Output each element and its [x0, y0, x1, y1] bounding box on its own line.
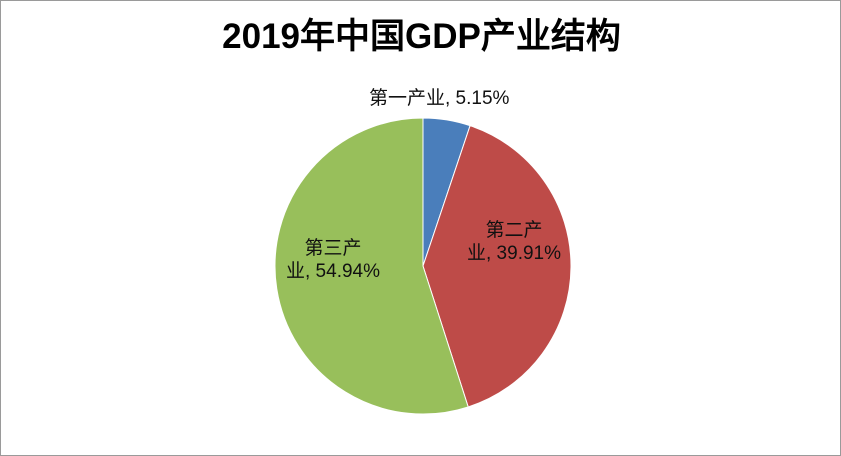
pie-label-third-industry: 第三产 业, 54.94% — [273, 237, 393, 283]
pie-label-second-industry-line1: 第二产 — [485, 220, 542, 241]
pie-label-third-industry-line1: 第三产 — [304, 238, 361, 259]
pie-label-second-industry: 第二产 业, 39.91% — [453, 219, 575, 265]
pie-label-third-industry-line2: 业, 54.94% — [286, 261, 380, 282]
chart-container: 2019年中国GDP产业结构 第一产业, 5.15% 第二产 业, 39.91%… — [0, 0, 841, 456]
pie-chart-graphic — [1, 1, 841, 456]
pie-label-second-industry-line2: 业, 39.91% — [467, 243, 561, 264]
pie-label-first-industry: 第一产业, 5.15% — [369, 87, 509, 110]
